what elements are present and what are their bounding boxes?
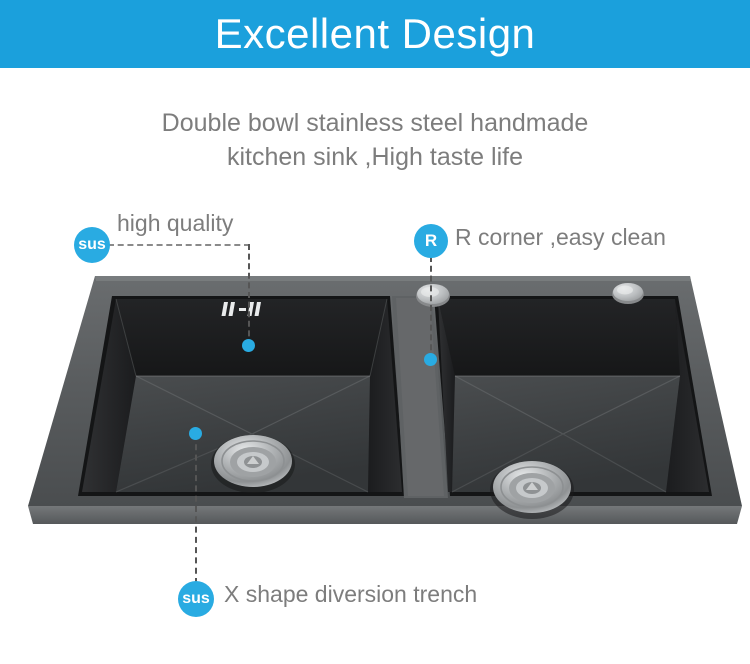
marker-dot-x-shape-trench: [189, 427, 202, 440]
callout-label-high-quality: high quality: [117, 210, 233, 237]
left-bowl-drain: [211, 435, 295, 493]
subtitle-line-1: Double bowl stainless steel handmade: [162, 109, 589, 137]
left-bowl: [78, 296, 405, 496]
leader-line-x-shape-trench: [195, 434, 197, 584]
product-feature-page: Excellent Design Double bowl stainless s…: [0, 0, 750, 664]
marker-dot-high-quality: [242, 339, 255, 352]
leader-line-high-quality-vertical: [248, 244, 250, 346]
badge-r-corner: R: [414, 224, 448, 258]
badge-sus-high-quality: sus: [74, 227, 110, 263]
marker-dot-r-corner: [424, 353, 437, 366]
faucet-hole-plug-right: [612, 283, 644, 304]
faucet-hole-plug-left: [416, 284, 450, 307]
right-bowl: [434, 296, 712, 519]
product-image: [0, 268, 750, 568]
right-bowl-drain: [490, 461, 574, 519]
leader-line-high-quality-horizontal: [108, 244, 250, 246]
page-title: Excellent Design: [0, 0, 750, 68]
callout-label-x-shape-trench: X shape diversion trench: [224, 581, 477, 608]
header-banner: Excellent Design: [0, 0, 750, 68]
subtitle: Double bowl stainless steel handmade kit…: [0, 106, 750, 174]
subtitle-line-2: kitchen sink ,High taste life: [0, 140, 750, 174]
badge-sus-x-shape-trench: sus: [178, 581, 214, 617]
callout-label-r-corner: R corner ,easy clean: [455, 224, 666, 251]
leader-line-r-corner: [430, 256, 432, 360]
